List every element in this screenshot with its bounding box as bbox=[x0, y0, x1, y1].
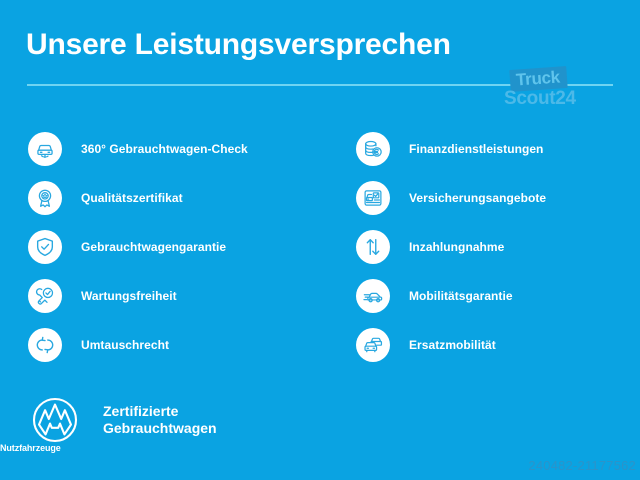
vw-claim-line2: Gebrauchtwagen bbox=[103, 420, 217, 437]
benefit-item-qualitaetszertifikat: Qualitätszertifikat bbox=[28, 173, 308, 222]
benefit-item-ersatzmobilitaet: Ersatzmobilität bbox=[356, 320, 636, 369]
vw-subbrand-label: Nutzfahrzeuge bbox=[0, 443, 61, 453]
two-cars-icon bbox=[356, 328, 390, 362]
page-title: Unsere Leistungsversprechen bbox=[26, 28, 451, 62]
wrench-check-icon bbox=[28, 279, 62, 313]
benefit-label: Ersatzmobilität bbox=[409, 338, 496, 352]
benefit-label: 360° Gebrauchtwagen-Check bbox=[81, 142, 248, 156]
promo-slide: Unsere Leistungsversprechen Truck Scout2… bbox=[0, 0, 640, 480]
benefit-label: Inzahlungnahme bbox=[409, 240, 504, 254]
exchange-arrows-icon bbox=[28, 328, 62, 362]
benefit-item-inzahlungnahme: Inzahlungnahme bbox=[356, 222, 636, 271]
up-down-arrows-icon bbox=[356, 230, 390, 264]
car-motion-icon bbox=[356, 279, 390, 313]
vw-claim-text: Zertifizierte Gebrauchtwagen bbox=[103, 403, 217, 437]
benefit-item-umtauschrecht: Umtauschrecht bbox=[28, 320, 308, 369]
truckscout24-watermark-logo: Truck Scout24 bbox=[504, 68, 600, 114]
benefit-label: Gebrauchtwagengarantie bbox=[81, 240, 226, 254]
benefit-label: Mobilitätsgarantie bbox=[409, 289, 513, 303]
benefit-label: Qualitätszertifikat bbox=[81, 191, 183, 205]
benefit-item-versicherungsangebote: Versicherungsangebote bbox=[356, 173, 636, 222]
benefit-item-wartungsfreiheit: Wartungsfreiheit bbox=[28, 271, 308, 320]
benefit-list-left: 360° Gebrauchtwagen-Check Qualitätszerti… bbox=[28, 124, 308, 369]
benefit-item-finanzdienstleistungen: Finanzdienstleistungen bbox=[356, 124, 636, 173]
shield-check-icon bbox=[28, 230, 62, 264]
asset-id-watermark: 240482-21177562 bbox=[528, 458, 636, 473]
vw-roundel-icon bbox=[31, 396, 79, 449]
vw-claim-line1: Zertifizierte bbox=[103, 403, 217, 420]
coins-euro-icon bbox=[356, 132, 390, 166]
benefit-list-right: Finanzdienstleistungen Versicherungsange… bbox=[356, 124, 636, 369]
watermark-truck-text: Truck bbox=[515, 68, 560, 90]
benefit-label: Umtauschrecht bbox=[81, 338, 169, 352]
benefit-label: Versicherungsangebote bbox=[409, 191, 546, 205]
benefit-item-gebrauchtwagengarantie: Gebrauchtwagengarantie bbox=[28, 222, 308, 271]
watermark-scout24-text: Scout24 bbox=[504, 88, 576, 110]
benefit-label: Wartungsfreiheit bbox=[81, 289, 177, 303]
car-check-icon bbox=[28, 132, 62, 166]
benefit-item-mobilitaetsgarantie: Mobilitätsgarantie bbox=[356, 271, 636, 320]
benefit-label: Finanzdienstleistungen bbox=[409, 142, 543, 156]
benefit-item-gebrauchtwagen-check: 360° Gebrauchtwagen-Check bbox=[28, 124, 308, 173]
award-rosette-icon bbox=[28, 181, 62, 215]
truck-document-check-icon bbox=[356, 181, 390, 215]
